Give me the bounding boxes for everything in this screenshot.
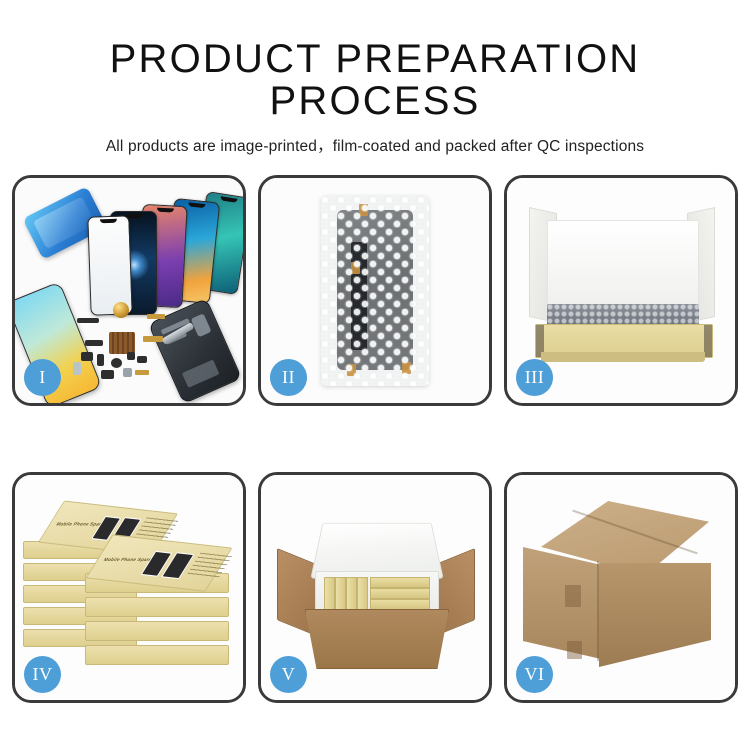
bubble-wrapped-package-icon [321,196,429,386]
step-badge: IV [24,656,61,693]
product-preparation-process-infographic: PRODUCT PREPARATION PROCESS All products… [0,0,750,750]
carton-with-foam-box-icon [279,505,473,669]
process-step-1: I [12,175,246,406]
step-badge: VI [516,656,553,693]
step-badge: V [270,656,307,693]
process-step-4: Mobile Phone Spare Parts Mobile Phone Sp… [12,472,246,703]
process-step-3: III [504,175,738,406]
process-step-grid: I II [12,175,738,703]
step-badge: II [270,359,307,396]
process-step-2: II [258,175,492,406]
stacked-boxes-icon: Mobile Phone Spare Parts Mobile Phone Sp… [21,497,237,687]
process-step-6: VI [504,472,738,703]
foam-sheet-icon [547,220,699,308]
foam-box-icon [315,519,437,621]
header: PRODUCT PREPARATION PROCESS All products… [0,0,750,156]
carton-body [305,609,449,669]
page-title: PRODUCT PREPARATION PROCESS [0,38,750,122]
sealed-carton-icon [523,501,719,669]
spare-parts-cluster-icon [71,300,201,400]
open-yellow-box-icon [529,204,715,364]
step-badge: I [24,359,61,396]
phone-lineup-icon [101,194,241,309]
step-badge: III [516,359,553,396]
process-step-5: V [258,472,492,703]
page-subtitle: All products are image-printed，film-coat… [0,134,750,156]
